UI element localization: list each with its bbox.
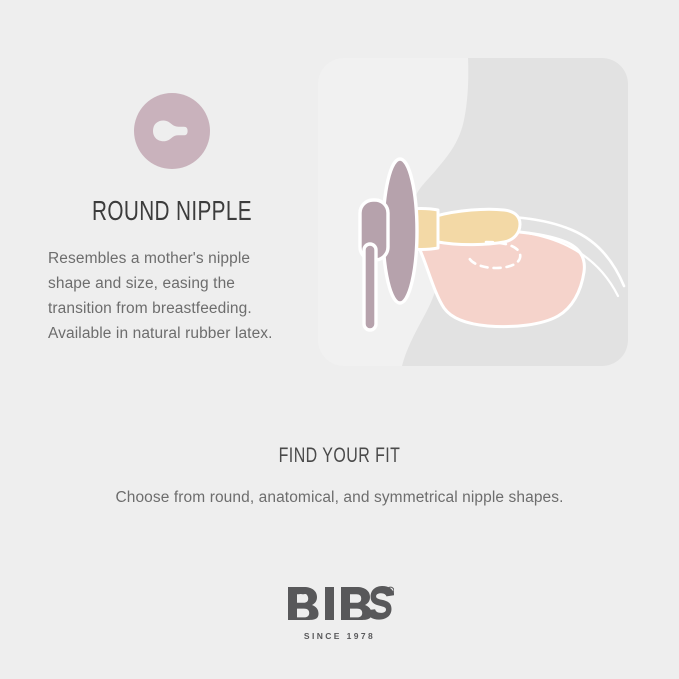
feature-description: Resembles a mother's nipple shape and si… [48, 246, 296, 346]
feature-block: ROUND NIPPLE Resembles a mother's nipple… [48, 80, 296, 346]
find-your-fit-title: FIND YOUR FIT [81, 443, 597, 468]
pacifier-illustration-panel [318, 58, 628, 366]
round-nipple-shape-icon [133, 92, 211, 170]
svg-text:R: R [388, 589, 391, 594]
infographic-page: ROUND NIPPLE Resembles a mother's nipple… [0, 0, 679, 679]
feature-title: ROUND NIPPLE [80, 196, 264, 227]
brand-logo: R SINCE 1978 [0, 586, 679, 641]
registered-mark: R [387, 587, 394, 594]
bibs-wordmark: R [286, 586, 394, 620]
find-your-fit-section: FIND YOUR FIT Choose from round, anatomi… [0, 443, 679, 507]
logo-tagline: SINCE 1978 [0, 631, 679, 641]
find-your-fit-subtitle: Choose from round, anatomical, and symme… [0, 489, 679, 507]
